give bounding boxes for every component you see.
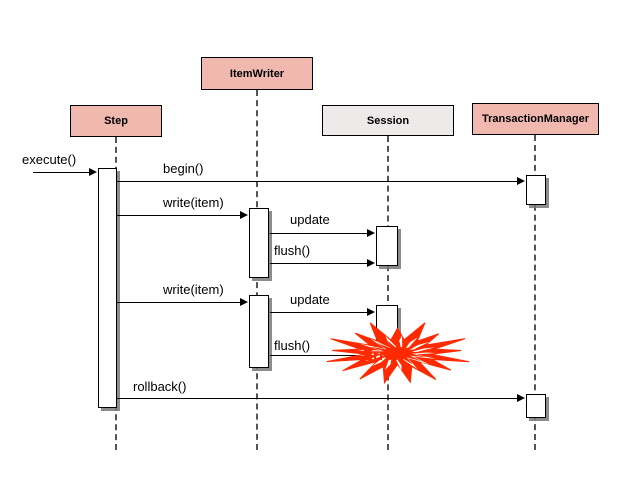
- arrow-head-icon: [240, 298, 248, 306]
- arrow-head-icon: [517, 394, 525, 402]
- sequence-diagram-canvas: Step ItemWriter Session TransactionManag…: [0, 0, 642, 491]
- participant-label: Session: [367, 115, 409, 127]
- message-line: [270, 233, 368, 234]
- message-label: write(item): [163, 282, 224, 297]
- arrow-head-icon: [367, 308, 375, 316]
- message-label: update: [290, 212, 330, 227]
- message-line: [270, 312, 368, 313]
- activation-bar: [376, 226, 398, 266]
- participant-label: Step: [104, 115, 128, 127]
- participant-step[interactable]: Step: [70, 105, 162, 137]
- message-label: begin(): [163, 161, 203, 176]
- activation-bar: [526, 175, 546, 205]
- message-line: [117, 398, 518, 399]
- message-label: flush(): [274, 243, 310, 258]
- message-line: [33, 172, 90, 173]
- participant-label: TransactionManager: [482, 113, 589, 125]
- participant-itemwriter[interactable]: ItemWriter: [201, 57, 313, 90]
- activation-bar: [249, 295, 269, 368]
- arrow-head-icon: [367, 229, 375, 237]
- error-label: Error!: [363, 347, 405, 364]
- message-line: [270, 263, 368, 264]
- participant-transactionmanager[interactable]: TransactionManager: [472, 103, 599, 135]
- lifeline-session: [387, 136, 389, 450]
- message-line: [117, 181, 518, 182]
- arrow-head-icon: [517, 177, 525, 185]
- arrow-head-icon: [367, 259, 375, 267]
- activation-bar: [98, 168, 117, 408]
- activation-bar: [526, 394, 546, 418]
- activation-bar: [249, 208, 269, 278]
- arrow-head-icon: [89, 168, 97, 176]
- message-label: flush(): [274, 338, 310, 353]
- message-label: execute(): [22, 152, 76, 167]
- message-label: rollback(): [133, 379, 186, 394]
- message-label: update: [290, 292, 330, 307]
- participant-session[interactable]: Session: [322, 105, 454, 136]
- participant-label: ItemWriter: [230, 68, 284, 80]
- message-line: [117, 302, 241, 303]
- message-line: [117, 215, 241, 216]
- message-line: [270, 355, 368, 356]
- message-label: write(item): [163, 195, 224, 210]
- arrow-head-icon: [240, 211, 248, 219]
